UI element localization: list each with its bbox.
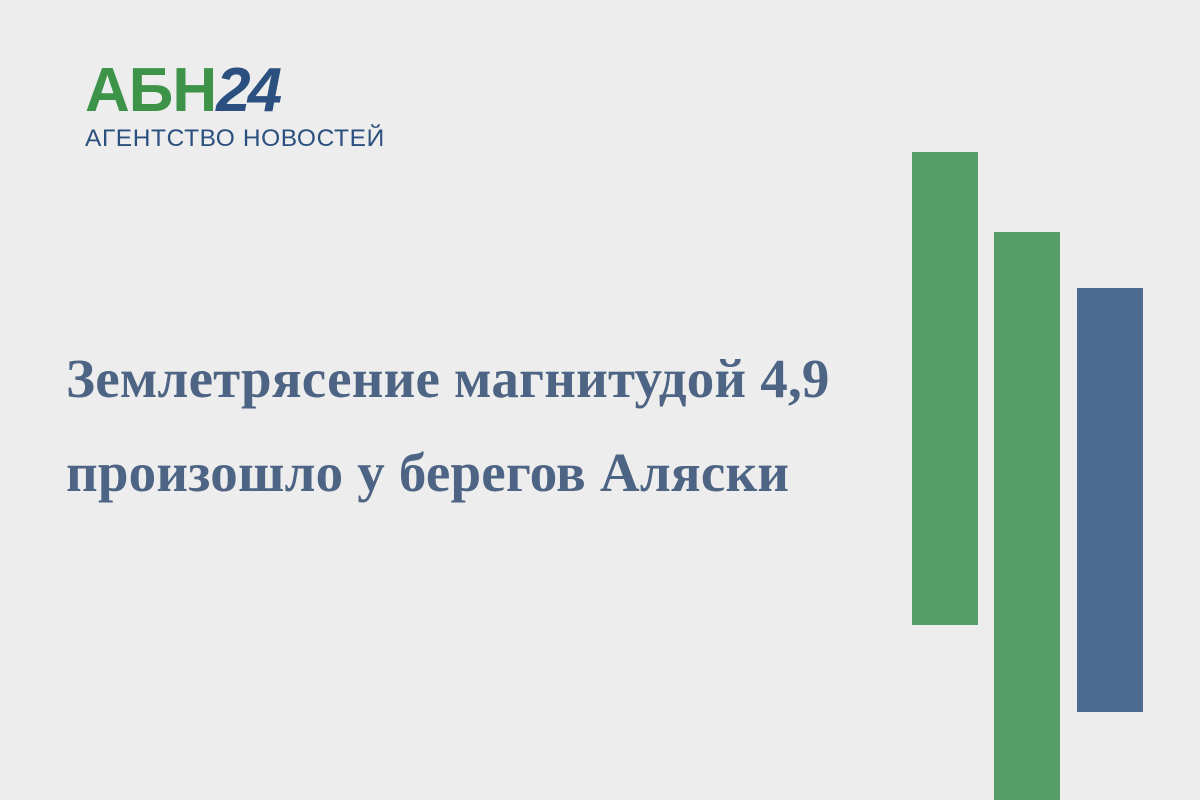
logo-wordmark: АБН24	[85, 62, 370, 121]
logo-wordmark-secondary: 24	[216, 56, 279, 125]
decorative-bar-3	[1077, 288, 1143, 712]
news-card: АБН24 АГЕНТСТВО НОВОСТЕЙ Землетрясение м…	[0, 0, 1200, 800]
decorative-bar-2	[994, 232, 1060, 800]
decorative-bar-1	[912, 152, 978, 625]
logo-tagline: АГЕНТСТВО НОВОСТЕЙ	[85, 125, 370, 153]
headline: Землетрясение магнитудой 4,9 произошло у…	[66, 332, 866, 520]
logo-wordmark-primary: АБН	[85, 56, 216, 125]
brand-logo[interactable]: АБН24 АГЕНТСТВО НОВОСТЕЙ	[85, 62, 370, 153]
